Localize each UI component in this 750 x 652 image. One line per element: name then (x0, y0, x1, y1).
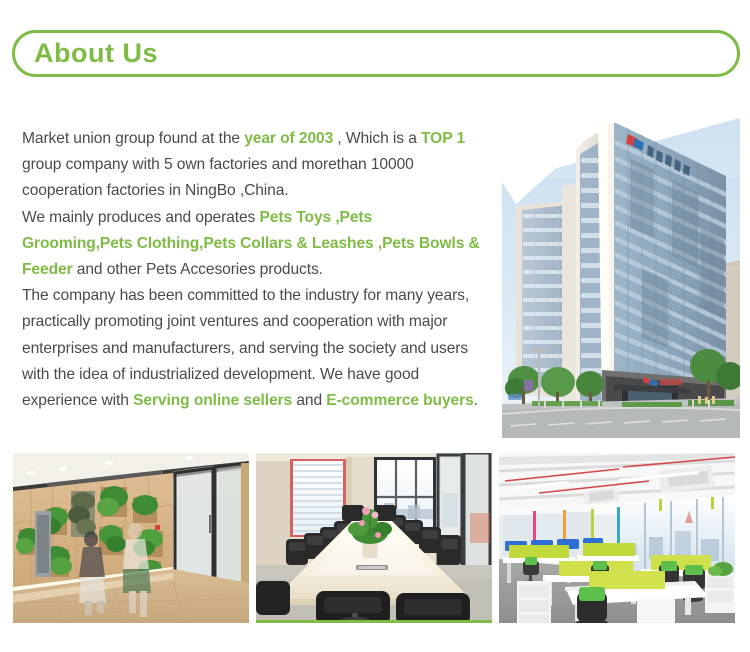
paragraph-3: The company has been committed to the in… (22, 283, 482, 414)
open-plan-office-photo (499, 453, 735, 623)
page-title: About Us (34, 34, 158, 73)
text-run: and other Pets Accesories products. (73, 261, 323, 278)
text-run: We mainly produces and operates (22, 209, 259, 226)
highlight-top-1: TOP 1 (421, 130, 465, 147)
highlight-year-of-2003: year of 2003 (244, 130, 333, 147)
text-run: , Which is a (333, 130, 421, 147)
about-us-body-text: Market union group found at the year of … (22, 126, 482, 414)
text-run: group company with 5 own factories and m… (22, 156, 414, 199)
highlight-serving-online-sellers: Serving online sellers (133, 392, 292, 409)
company-headquarters-building-photo (502, 118, 740, 438)
paragraph-1: Market union group found at the year of … (22, 126, 482, 205)
lobby-green-plant-wall-photo (13, 453, 249, 623)
conference-meeting-room-photo (256, 453, 492, 623)
text-run: . (474, 392, 478, 409)
highlight-ecommerce-buyers: E-commerce buyers (326, 392, 473, 409)
paragraph-2: We mainly produces and operates Pets Toy… (22, 205, 482, 284)
meeting-photo-green-underline (256, 620, 492, 623)
text-run: Market union group found at the (22, 130, 244, 147)
text-run: and (292, 392, 326, 409)
about-us-page: About Us Market union group found at the… (0, 0, 750, 652)
text-run: The company has been committed to the in… (22, 287, 469, 409)
